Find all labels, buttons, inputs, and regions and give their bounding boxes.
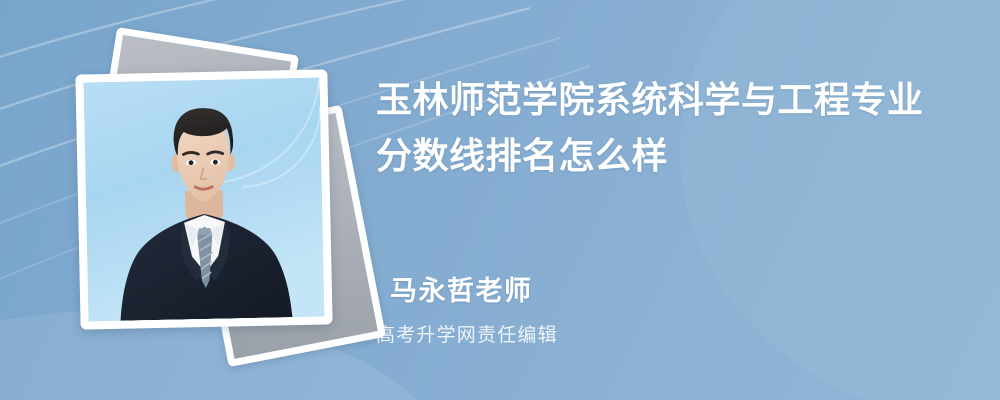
page-title-line-1: 玉林师范学院系统科学与工程专业 (376, 72, 956, 128)
page-title: 玉林师范学院系统科学与工程专业 分数线排名怎么样 (376, 72, 956, 184)
portrait-frame[interactable] (75, 69, 332, 329)
portrait-photo (84, 78, 325, 322)
page-title-line-2: 分数线排名怎么样 (376, 128, 956, 184)
portrait-illustration (84, 78, 325, 322)
author-name: 马永哲老师 (390, 269, 533, 308)
photo-frame-stack (60, 30, 350, 360)
article-cover-banner: 玉林师范学院系统科学与工程专业 分数线排名怎么样 马永哲老师 高考升学网责任编辑 (0, 0, 1000, 400)
author-role: 高考升学网责任编辑 (376, 320, 558, 347)
text-column: 玉林师范学院系统科学与工程专业 分数线排名怎么样 马永哲老师 高考升学网责任编辑 (376, 0, 976, 400)
